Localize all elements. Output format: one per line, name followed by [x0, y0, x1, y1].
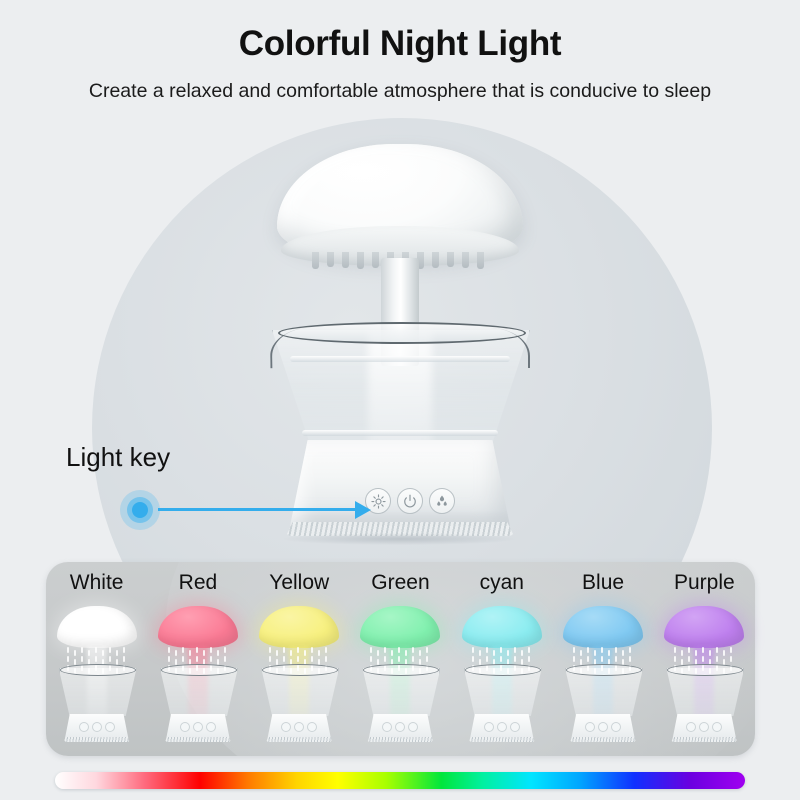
thumbnail-light-button: [484, 722, 494, 732]
thumbnail-mushroom-cap: [563, 606, 643, 648]
thumbnail-mushroom-cap: [57, 606, 137, 648]
callout-arrow-head: [355, 501, 371, 519]
thumbnail-tank-rim: [262, 664, 338, 676]
thumbnail-power-button: [92, 722, 102, 732]
thumbnail-vent: [570, 737, 636, 742]
thumbnail-control-buttons: [281, 722, 317, 730]
power-button[interactable]: [397, 488, 423, 514]
thumbnail-mist-button: [611, 722, 621, 732]
thumbnail-light-button: [281, 722, 291, 732]
thumbnail-mushroom-cap: [158, 606, 238, 648]
thumbnail-mushroom-cap: [259, 606, 339, 648]
product-thumbnail: [557, 606, 649, 746]
water-tank: [272, 322, 528, 454]
color-swatch-label: Yellow: [249, 571, 350, 595]
tank-waterline-lower: [302, 430, 498, 436]
thumbnail-light-button: [585, 722, 595, 732]
color-swatch-label: White: [46, 571, 147, 595]
thumbnail-tank-rim: [161, 664, 237, 676]
color-swatch-panel: WhiteRedYellowGreencyanBluePurple: [46, 562, 755, 756]
thumbnail-vent: [266, 737, 332, 742]
callout-arrow-line: [158, 508, 363, 511]
nozzle-pin: [462, 252, 469, 268]
nozzle-pin: [357, 252, 364, 269]
color-swatch-blue[interactable]: Blue: [552, 562, 653, 756]
nozzle-pin: [432, 252, 439, 268]
thumbnail-power-button: [497, 722, 507, 732]
thumbnail-vent: [469, 737, 535, 742]
product-thumbnail: [253, 606, 345, 746]
color-swatch-green[interactable]: Green: [350, 562, 451, 756]
color-swatch-white[interactable]: White: [46, 562, 147, 756]
nozzle-pin: [312, 252, 319, 269]
thumbnail-mist-button: [307, 722, 317, 732]
thumbnail-mushroom-cap: [462, 606, 542, 648]
tank-waterline-upper: [290, 356, 510, 362]
nozzle-pin: [477, 252, 484, 269]
nozzle-pin: [342, 252, 349, 268]
product-thumbnail: [354, 606, 446, 746]
product-thumbnail: [658, 606, 750, 746]
thumbnail-power-button: [598, 722, 608, 732]
thumbnail-mist-button: [510, 722, 520, 732]
color-swatch-label: Purple: [654, 571, 755, 595]
base-shadow: [284, 533, 516, 545]
page-subtitle: Create a relaxed and comfortable atmosph…: [0, 80, 800, 103]
thumbnail-light-button: [79, 722, 89, 732]
thumbnail-mushroom-cap: [360, 606, 440, 648]
thumbnail-light-button: [382, 722, 392, 732]
promo-stage: Colorful Night Light Create a relaxed an…: [0, 0, 800, 800]
light-key-label: Light key: [66, 442, 170, 473]
thumbnail-power-button: [395, 722, 405, 732]
color-swatch-label: Red: [147, 571, 248, 595]
thumbnail-light-button: [180, 722, 190, 732]
color-swatch-label: cyan: [451, 571, 552, 595]
thumbnail-control-buttons: [79, 722, 115, 730]
control-button-row: [365, 488, 453, 514]
thumbnail-tank-rim: [566, 664, 642, 676]
thumbnail-vent: [165, 737, 231, 742]
thumbnail-mushroom-cap: [664, 606, 744, 648]
color-swatch-label: Green: [350, 571, 451, 595]
nozzle-pin: [447, 252, 454, 267]
color-swatch-cyan[interactable]: cyan: [451, 562, 552, 756]
page-title: Colorful Night Light: [0, 24, 800, 64]
tank-rim: [278, 322, 526, 344]
thumbnail-mist-button: [408, 722, 418, 732]
thumbnail-power-button: [699, 722, 709, 732]
color-swatch-red[interactable]: Red: [147, 562, 248, 756]
thumbnail-power-button: [193, 722, 203, 732]
thumbnail-mist-button: [206, 722, 216, 732]
thumbnail-tank-rim: [60, 664, 136, 676]
thumbnail-tank-rim: [667, 664, 743, 676]
color-swatch-yellow[interactable]: Yellow: [249, 562, 350, 756]
product-thumbnail: [456, 606, 548, 746]
thumbnail-vent: [367, 737, 433, 742]
thumbnail-power-button: [294, 722, 304, 732]
nozzle-pin: [372, 252, 379, 268]
thumbnail-vent: [64, 737, 130, 742]
nozzle-pin: [327, 252, 334, 267]
thumbnail-tank-rim: [465, 664, 541, 676]
product-thumbnail: [51, 606, 143, 746]
mist-droplet-icon: [435, 494, 449, 508]
mist-button[interactable]: [429, 488, 455, 514]
callout-marker-dot: [132, 502, 148, 518]
thumbnail-control-buttons: [484, 722, 520, 730]
thumbnail-mist-button: [105, 722, 115, 732]
product-thumbnail: [152, 606, 244, 746]
power-icon: [403, 494, 417, 508]
color-spectrum-bar: [55, 772, 745, 789]
thumbnail-vent: [671, 737, 737, 742]
thumbnail-tank-rim: [363, 664, 439, 676]
sun-icon: [371, 494, 386, 509]
thumbnail-mist-button: [712, 722, 722, 732]
thumbnail-control-buttons: [585, 722, 621, 730]
cap-highlight: [320, 156, 428, 196]
thumbnail-control-buttons: [180, 722, 216, 730]
color-swatch-list: WhiteRedYellowGreencyanBluePurple: [46, 562, 755, 756]
thumbnail-control-buttons: [686, 722, 722, 730]
thumbnail-control-buttons: [382, 722, 418, 730]
thumbnail-light-button: [686, 722, 696, 732]
color-swatch-purple[interactable]: Purple: [654, 562, 755, 756]
color-swatch-label: Blue: [552, 571, 653, 595]
product-image-main: [250, 140, 550, 560]
